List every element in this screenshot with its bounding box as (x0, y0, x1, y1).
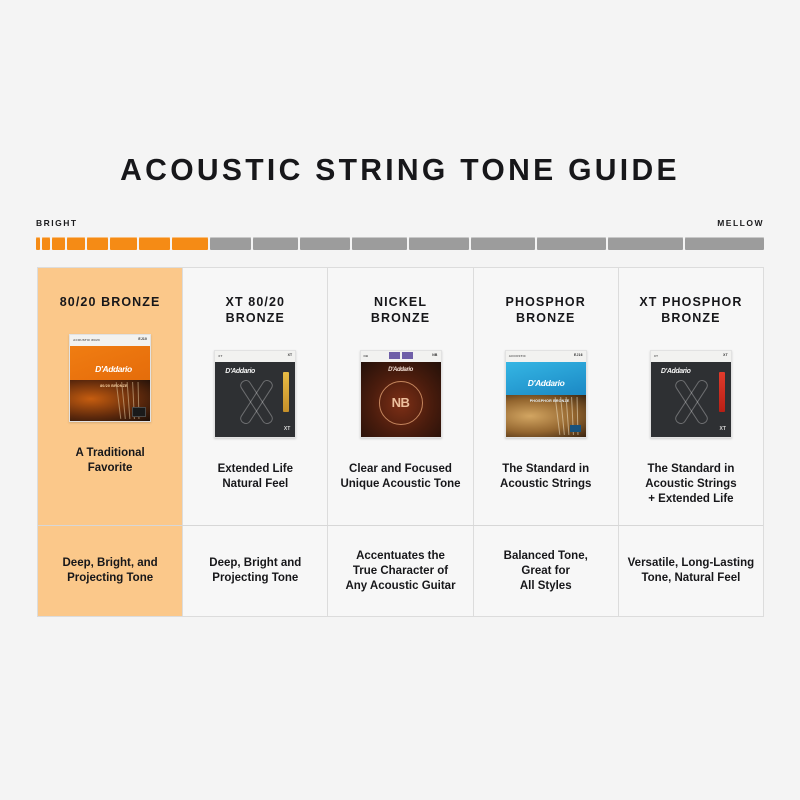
column-tagline: Clear and Focused Unique Acoustic Tone (340, 462, 460, 492)
string-column-nickel-bronze[interactable]: NICKEL BRONZENBNBD'AddarioNBClear and Fo… (328, 268, 473, 525)
tone-scale-segment (608, 237, 682, 250)
daddario-logo: D'Addario (225, 368, 255, 375)
tone-scale-segment (352, 237, 407, 250)
column-tagline: Extended Life Natural Feel (218, 462, 293, 492)
package-badge (570, 425, 581, 432)
tone-scale-segment (471, 237, 536, 250)
column-tagline: A Traditional Favorite (75, 446, 144, 476)
tone-description: Accentuates the True Character of Any Ac… (345, 549, 455, 594)
daddario-logo: D'Addario (528, 378, 565, 388)
tone-scale-segment (685, 237, 764, 250)
tone-guide-page: ACOUSTIC STRING TONE GUIDE BRIGHT MELLOW… (0, 0, 800, 800)
package-image-slot: ACOUSTIC 80/20EJ10D'Addario80/20 BRONZE (69, 332, 151, 424)
tone-description-cell-nickel-bronze: Accentuates the True Character of Any Ac… (328, 526, 473, 616)
package-kind-label: ACOUSTIC 80/20 (73, 338, 100, 342)
tone-description: Balanced Tone, Great for All Styles (504, 549, 588, 594)
package-badge (132, 407, 146, 417)
package-top-chips (389, 352, 413, 359)
package-artwork: D'AddarioXT (651, 362, 731, 437)
package-artwork: D'AddarioNB (361, 362, 441, 437)
tone-description-cell-phosphor-bronze: Balanced Tone, Great for All Styles (474, 526, 619, 616)
product-package-image: ACOUSTICEJ16D'AddarioPHOSPHOR BRONZE (505, 350, 587, 438)
package-kind-label: XT (218, 354, 222, 358)
package-image-slot: ACOUSTICEJ16D'AddarioPHOSPHOR BRONZE (505, 348, 587, 440)
product-package-image: XTXTD'AddarioXT (650, 350, 732, 438)
tone-scale-segment (172, 237, 208, 250)
package-code-label: XT (288, 353, 293, 357)
product-package-image: ACOUSTIC 80/20EJ10D'Addario80/20 BRONZE (69, 334, 151, 422)
tone-scale-segment (139, 237, 170, 250)
tone-scale-segment (42, 237, 50, 250)
package-color-stripe (719, 372, 725, 412)
package-subtitle: NB (392, 395, 410, 410)
tone-scale-segment (537, 237, 606, 250)
column-title: XT 80/20 BRONZE (226, 294, 286, 326)
column-title: XT PHOSPHOR BRONZE (639, 294, 742, 326)
package-code-label: XT (723, 353, 728, 357)
tone-scale-segment (110, 237, 137, 250)
column-title: PHOSPHOR BRONZE (506, 294, 586, 326)
string-comparison-table: 80/20 BRONZEACOUSTIC 80/20EJ10D'Addario8… (37, 267, 764, 617)
xt-x-logo (667, 377, 715, 425)
package-artwork: D'AddarioXT (215, 362, 295, 437)
tone-scale-mellow-label: MELLOW (717, 218, 764, 228)
nickel-bronze-seal: NB (379, 381, 423, 425)
tone-scale-bar (36, 237, 764, 250)
package-kind-label: ACOUSTIC (509, 354, 526, 358)
table-row-main: 80/20 BRONZEACOUSTIC 80/20EJ10D'Addario8… (38, 268, 763, 525)
package-subtitle: PHOSPHOR BRONZE (530, 399, 570, 403)
package-artwork: D'AddarioPHOSPHOR BRONZE (506, 362, 586, 437)
tone-scale-segment (36, 237, 40, 250)
page-title: ACOUSTIC STRING TONE GUIDE (12, 152, 788, 188)
string-column-xt-80-20-bronze[interactable]: XT 80/20 BRONZEXTXTD'AddarioXTExtended L… (183, 268, 328, 525)
package-kind-label: XT (654, 354, 658, 358)
tone-description-cell-80-20-bronze: Deep, Bright, and Projecting Tone (38, 526, 183, 616)
package-artwork: D'Addario80/20 BRONZE (70, 346, 150, 421)
product-package-image: NBNBD'AddarioNB (360, 350, 442, 438)
column-tagline: The Standard in Acoustic Strings (500, 462, 591, 492)
string-column-xt-phosphor-bronze[interactable]: XT PHOSPHOR BRONZEXTXTD'AddarioXTThe Sta… (619, 268, 763, 525)
tone-description-cell-xt-80-20-bronze: Deep, Bright and Projecting Tone (183, 526, 328, 616)
package-code-label: NB (432, 353, 437, 357)
package-subtitle: XT (720, 426, 726, 432)
tone-scale-segment (409, 237, 469, 250)
tone-description: Deep, Bright, and Projecting Tone (63, 556, 158, 586)
package-subtitle: 80/20 BRONZE (100, 384, 128, 388)
daddario-logo: D'Addario (388, 367, 413, 373)
tone-scale-segment (210, 237, 251, 250)
product-package-image: XTXTD'AddarioXT (214, 350, 296, 438)
tone-scale: BRIGHT MELLOW (36, 218, 764, 250)
string-column-80-20-bronze[interactable]: 80/20 BRONZEACOUSTIC 80/20EJ10D'Addario8… (38, 268, 183, 525)
daddario-logo: D'Addario (95, 364, 132, 374)
package-subtitle: XT (284, 426, 290, 432)
column-title: NICKEL BRONZE (371, 294, 430, 326)
package-image-slot: NBNBD'AddarioNB (360, 348, 442, 440)
tone-description: Deep, Bright and Projecting Tone (209, 556, 301, 586)
package-image-slot: XTXTD'AddarioXT (214, 348, 296, 440)
tone-scale-labels: BRIGHT MELLOW (36, 218, 764, 232)
tone-scale-segment (67, 237, 84, 250)
tone-scale-segment (253, 237, 298, 250)
daddario-logo: D'Addario (661, 368, 691, 375)
string-column-phosphor-bronze[interactable]: PHOSPHOR BRONZEACOUSTICEJ16D'AddarioPHOS… (474, 268, 619, 525)
tone-scale-segment (87, 237, 109, 250)
package-code-label: EJ10 (138, 337, 147, 341)
package-color-stripe (283, 372, 289, 412)
tone-scale-segment (300, 237, 350, 250)
column-title: 80/20 BRONZE (60, 294, 161, 310)
package-kind-label: NB (364, 354, 369, 358)
tone-scale-segment (52, 237, 65, 250)
tone-description-cell-xt-phosphor-bronze: Versatile, Long-Lasting Tone, Natural Fe… (619, 526, 763, 616)
column-tagline: The Standard in Acoustic Strings + Exten… (645, 462, 736, 507)
package-image-slot: XTXTD'AddarioXT (650, 348, 732, 440)
tone-description: Versatile, Long-Lasting Tone, Natural Fe… (628, 556, 755, 586)
xt-x-logo (231, 377, 279, 425)
package-code-label: EJ16 (574, 353, 583, 357)
table-row-tone: Deep, Bright, and Projecting ToneDeep, B… (38, 525, 763, 616)
tone-scale-bright-label: BRIGHT (36, 218, 78, 228)
